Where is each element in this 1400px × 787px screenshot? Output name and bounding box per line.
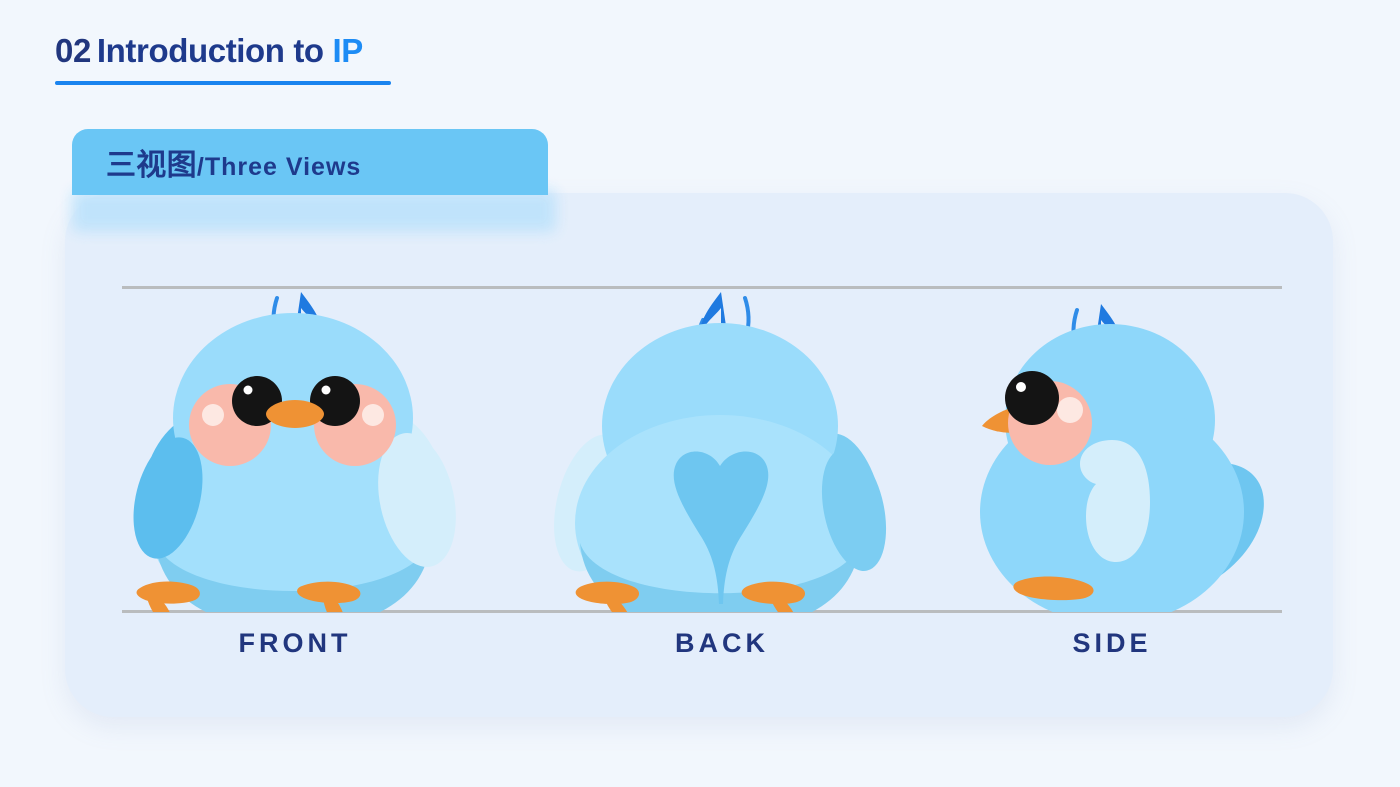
view-caption-side: SIDE [922,628,1302,659]
mascot-front-illustration [105,288,485,612]
view-caption-back: BACK [532,628,912,659]
eye-highlight [1016,382,1026,392]
foot-left [137,582,200,612]
cheek-highlight [1057,397,1083,423]
cheek-left-highlight [202,404,224,426]
cheek-right-highlight [362,404,384,426]
eye-left-highlight [244,386,253,395]
section-number: 02 [55,32,91,69]
section-header: 02Introduction to IP [55,30,555,72]
section-title-accent: IP [332,32,362,69]
mascot-back-illustration [532,288,912,612]
tab-label-en: /Three Views [197,153,361,181]
tab-label-cn: 三视图 [106,149,197,182]
view-column-side: SIDE [922,288,1302,688]
view-column-front: FRONT [105,288,485,688]
eye-right-highlight [322,386,331,395]
page-title: 02Introduction to IP [55,30,555,72]
view-column-back: BACK [532,288,912,688]
view-caption-front: FRONT [105,628,485,659]
eye [1005,371,1059,425]
tab-banner[interactable]: 三视图/Three Views [72,129,548,195]
tab-banner-label: 三视图/Three Views [106,140,361,184]
title-underline [55,81,391,85]
mascot-side-illustration [922,288,1302,612]
section-title-main: Introduction to [97,32,324,69]
tab-banner-shadow [72,190,556,232]
